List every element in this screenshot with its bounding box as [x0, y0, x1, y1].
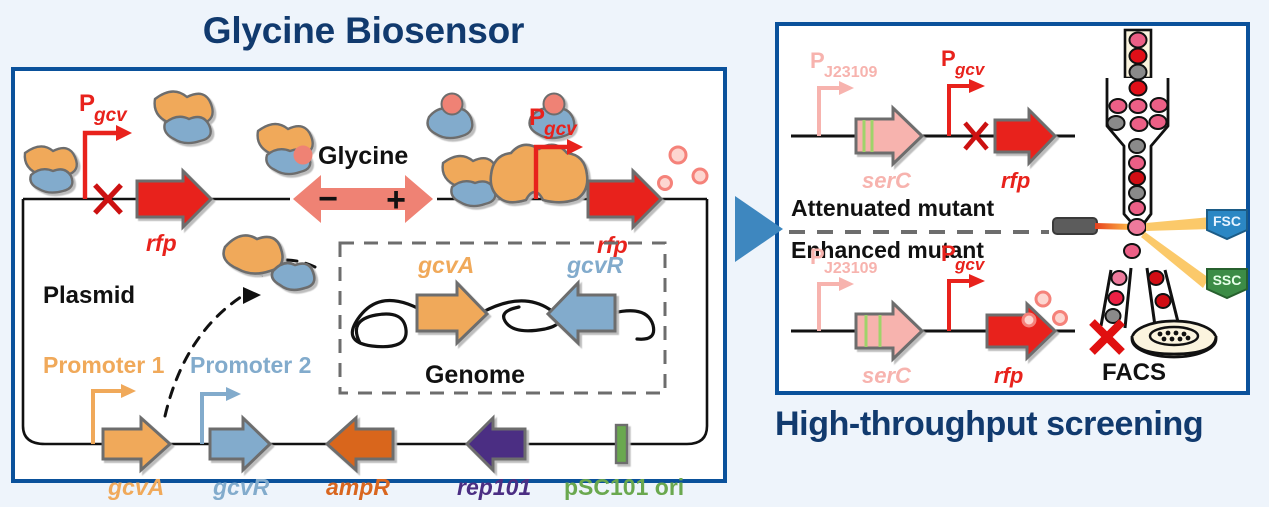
glycine-legend-label: Glycine [318, 142, 408, 170]
page-title-right: High-throughput screening [775, 405, 1265, 444]
plasmid-label: Plasmid [43, 282, 135, 309]
high-throughput-screening-panel: P J23109 serC P gcv rfp Attenuated mutan… [775, 22, 1250, 395]
attenuated-gene-serc [856, 108, 922, 164]
rfp-fluorescence-bubbles [659, 147, 708, 190]
enhanced-promoter-j23109-label-sub: J23109 [824, 260, 877, 277]
attenuated-mutant-title: Attenuated mutant [791, 195, 995, 221]
fsc-label: FSC [1213, 213, 1241, 229]
promoter-pgcv-off-label-sub: gcv [93, 105, 128, 126]
glycine-double-arrow [293, 175, 433, 223]
promoter-2-label: Promoter 2 [190, 352, 311, 378]
promoter-pgcv-off [85, 125, 132, 199]
gene-rfp-off-label: rfp [146, 230, 177, 256]
discard-x-marker [1092, 322, 1122, 352]
plasmid-gene-gcva [103, 418, 170, 470]
plasmid-gene-gcva-label: gcvA [107, 474, 164, 500]
attenuated-promoter-pgcv-label-main: P [941, 46, 956, 71]
promoter-pgcv-on-label-main: P [529, 104, 545, 131]
gene-rfp-on [588, 171, 661, 227]
laser-source-icon [1053, 218, 1097, 234]
plasmid-gene-gcvr-label: gcvR [212, 474, 270, 500]
attenuated-gene-rfp-label: rfp [1001, 168, 1030, 193]
ssc-label: SSC [1213, 272, 1242, 288]
plasmid-gene-rep101-label: rep101 [457, 474, 531, 500]
glycine-dot-legend [294, 146, 312, 164]
enhanced-promoter-pgcv-label-main: P [941, 241, 956, 266]
facs-label: FACS [1102, 359, 1166, 386]
promoter-pgcv-on-label-sub: gcv [543, 119, 578, 140]
gcvr-glycine-bound [428, 94, 588, 207]
plasmid-gene-gcvr [210, 418, 270, 470]
genome-gene-gcva [417, 283, 487, 343]
plasmid-gene-rep101 [467, 418, 525, 470]
attenuated-promoter-j23109-label-sub: J23109 [824, 64, 877, 81]
glycine-biosensor-panel: P gcv rfp Glycine − + [11, 67, 727, 483]
flow-cytometer-illustration: FSC SSC [1053, 30, 1247, 386]
enhanced-gene-rfp-label: rfp [994, 363, 1023, 388]
gcva-protein-blob [224, 235, 283, 273]
promoter-1-label: Promoter 1 [43, 352, 165, 378]
attenuated-gene-rfp [995, 110, 1055, 163]
ssc-detector-badge: SSC [1207, 269, 1247, 298]
biosensor-diagram: P gcv rfp Glycine − + [15, 71, 723, 479]
transition-arrow-icon [735, 196, 783, 262]
page-title-left: Glycine Biosensor [0, 10, 727, 52]
plasmid-psc101-ori-label: pSC101 ori [564, 474, 684, 500]
enhanced-gene-rfp [987, 304, 1055, 358]
screening-diagram: P J23109 serC P gcv rfp Attenuated mutan… [779, 26, 1246, 391]
gene-rfp-off [137, 171, 211, 227]
genome-gene-gcva-label: gcvA [417, 252, 474, 278]
plasmid-gene-ampr [327, 418, 393, 470]
attenuated-gene-serc-label: serC [862, 168, 912, 193]
enhanced-gene-serc-label: serC [862, 363, 912, 388]
attenuated-promoter-j23109-label-main: P [810, 48, 825, 73]
gcva-gcvr-complex [25, 91, 313, 192]
genome-gene-gcvr [548, 283, 615, 343]
enhanced-promoter-pgcv-label-sub: gcv [954, 255, 986, 274]
enhanced-promoter-j23109-label-main: P [810, 244, 825, 269]
petri-dish-icon [1132, 321, 1216, 357]
enhanced-promoter-pgcv [949, 274, 985, 331]
enhanced-promoter-j23109 [819, 277, 854, 331]
genome-label: Genome [425, 361, 525, 389]
plasmid-gene-ampr-label: ampR [326, 474, 390, 500]
fsc-detector-badge: FSC [1207, 210, 1247, 239]
attenuated-promoter-pgcv-label-sub: gcv [954, 60, 986, 79]
genome-gene-gcvr-label: gcvR [566, 252, 624, 278]
plasmid-psc101-ori-marker [616, 425, 627, 463]
enhanced-gene-serc [856, 303, 922, 359]
glycine-minus-sign: − [318, 180, 338, 218]
attenuated-promoter-j23109 [819, 81, 854, 136]
glycine-plus-sign: + [386, 181, 406, 219]
gcvr-protein-blob [272, 263, 314, 290]
promoter-pgcv-off-label-main: P [79, 90, 95, 117]
